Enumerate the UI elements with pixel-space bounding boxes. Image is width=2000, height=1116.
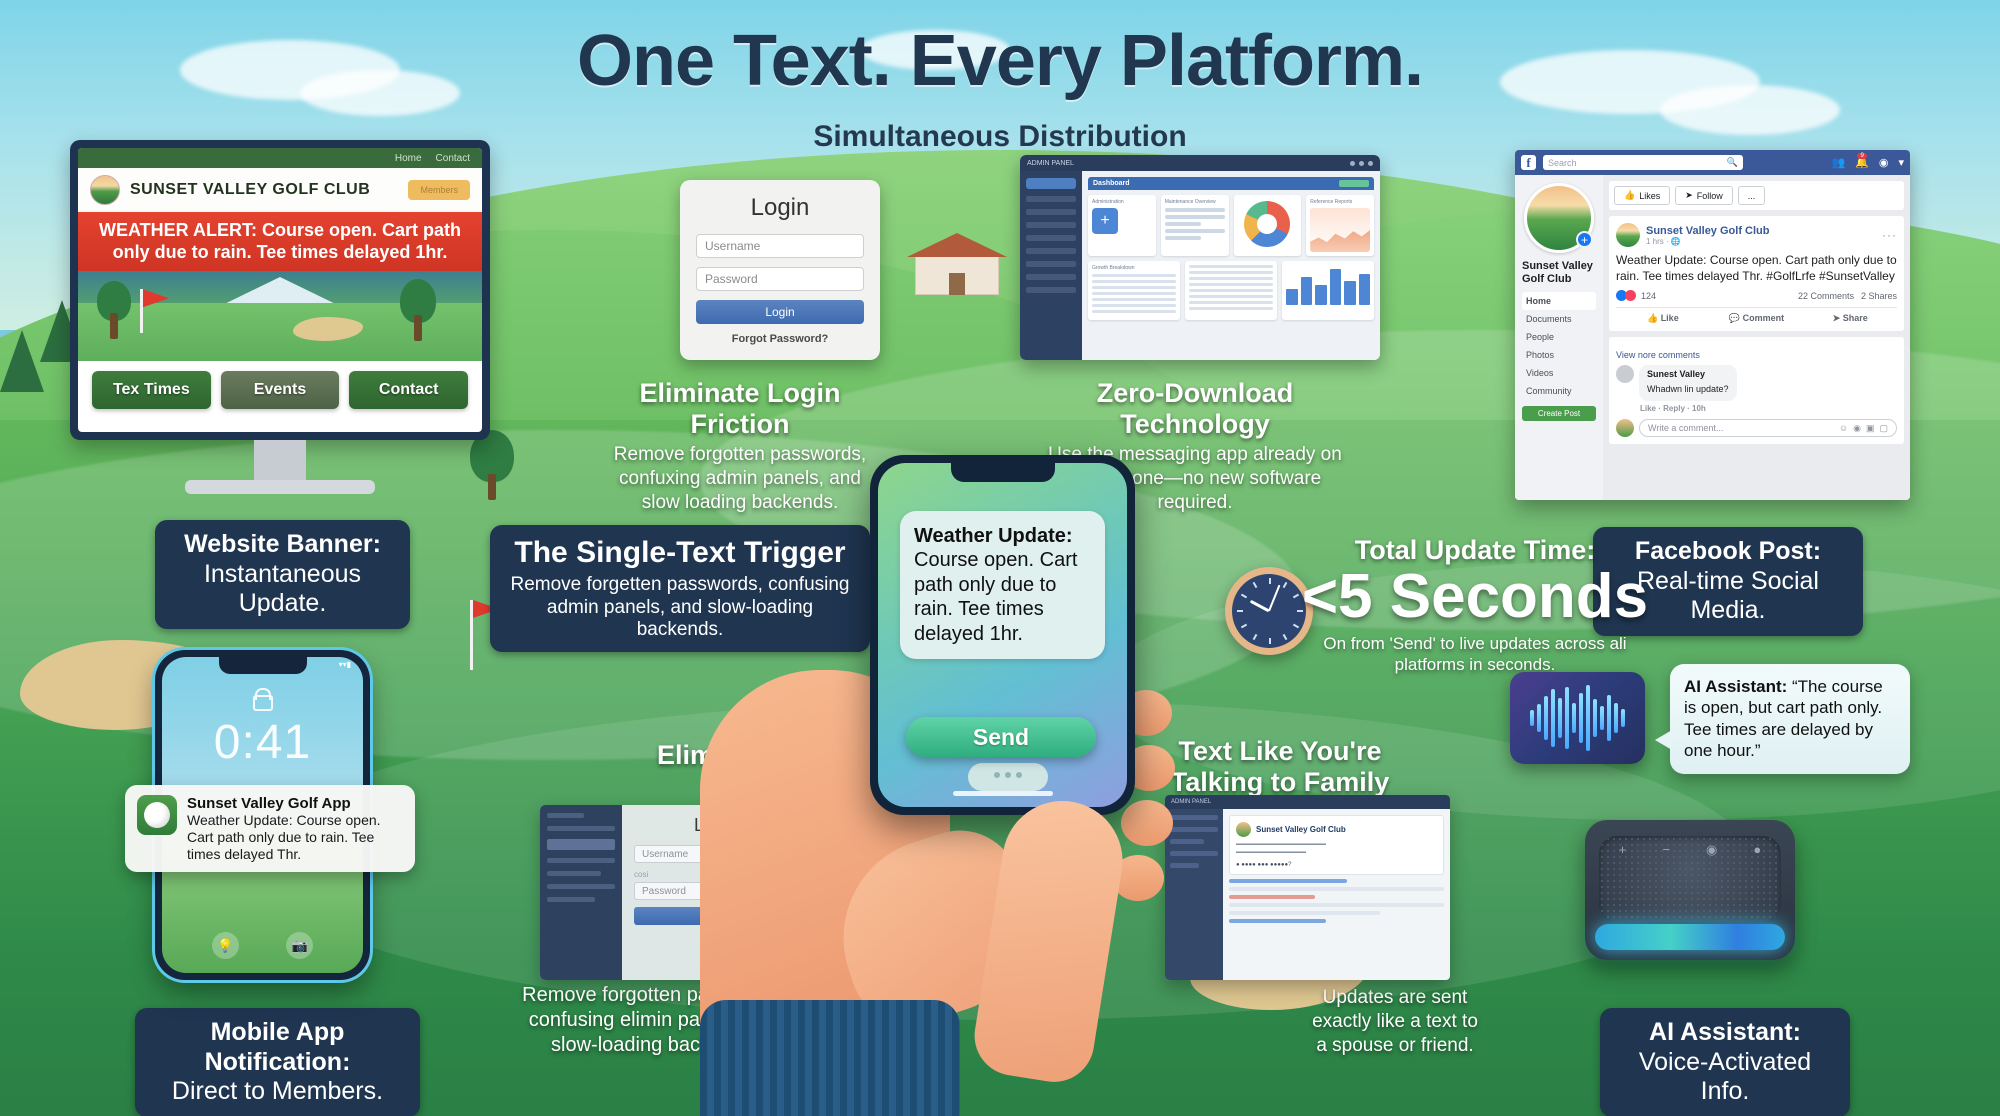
lock-icon [253,695,273,711]
window-body: Sunset Valley Golf Club ▬▬▬▬▬▬▬▬▬▬▬▬▬▬▬▬… [1165,809,1450,980]
ai-prefix: AI Assistant: [1684,677,1787,696]
page-action-bar: 👍 Likes ➤ Follow ... [1609,181,1904,210]
home-indicator [953,791,1053,796]
sidebar-primary-button[interactable] [1026,178,1076,189]
search-placeholder: Search [1548,158,1577,168]
dashboard-table-card [1185,261,1277,320]
sidebar-item[interactable] [1026,287,1076,293]
card-title: Reference Reports [1310,199,1370,205]
comment-placeholder: Write a comment... [1648,423,1723,433]
friends-icon[interactable]: 👥 [1831,156,1845,169]
share-arrow-icon: ➤ [1685,190,1693,201]
phone-screen: Weather Update: Course open. Cart path o… [878,463,1127,807]
phone-notch [219,657,307,674]
caption-title: Zero-Download Technology [1040,378,1350,440]
total-time-sub: On from 'Send' to live updates across al… [1300,633,1650,676]
message-body: Course open. Cart path only due to rain.… [914,549,1077,644]
mobile-notification[interactable]: Sunset Valley Golf App Weather Update: C… [125,785,415,872]
login-title: Login [696,194,864,222]
dashboard-window-title: ADMIN PANEL [1027,160,1074,167]
pill-title: AI Assistant: [1618,1018,1832,1048]
comment-input[interactable]: Write a comment... ☺ ◉ ▣ ▢ [1639,419,1897,437]
facebook-search-input[interactable]: Search 🔍 [1543,155,1743,170]
share-count[interactable]: 2 Shares [1861,291,1897,301]
dashboard-table-card: Growth Breakdown [1088,261,1180,320]
facebook-post: Sunset Valley Golf Club 1 hrs · 🌐 ··· We… [1609,216,1904,331]
send-button[interactable]: Send [906,717,1096,757]
sidebar-item-people[interactable]: People [1522,328,1596,346]
bar-chart [1286,265,1370,305]
message-question: ● ●●●● ●●● ●●●●●? [1236,862,1437,868]
facebook-window: f Search 🔍 👥 🔔 9 ◉ ▾ + Sunset Valley Gol… [1515,150,1910,500]
comment-tool-icons[interactable]: ☺ ◉ ▣ ▢ [1839,423,1888,434]
caption-text-like-family-desc: Updates are sent exactly like a text to … [1305,983,1485,1057]
status-bar-icons: ▾▾▮ [339,660,351,669]
sidebar-item[interactable] [1026,274,1076,280]
text-message-bubble: Weather Update: Course open. Cart path o… [900,511,1105,659]
contact-button[interactable]: Contact [349,371,468,409]
facebook-topbar: f Search 🔍 👥 🔔 9 ◉ ▾ [1515,150,1910,175]
sender-name: Sunset Valley Golf Club [1256,825,1346,834]
site-brand-name: SUNSET VALLEY GOLF CLUB [130,181,370,199]
events-button[interactable]: Events [221,371,340,409]
pill-title: Mobile App Notification: [153,1018,402,1077]
card-title: Administration [1092,199,1152,205]
total-update-time: Total Update Time: <5 Seconds On from 'S… [1300,535,1650,676]
monitor-base [185,480,375,494]
tree-trunk [488,474,496,500]
clock-hour-hand [1250,600,1270,613]
username-input[interactable]: Username [696,234,864,258]
tree-trunk [110,313,118,339]
sidebar-item[interactable] [1026,235,1076,241]
weather-alert-banner: WEATHER ALERT: Course open. Cart path on… [78,212,482,271]
dashboard-sidebar[interactable] [1020,171,1082,360]
write-comment-row: Write a comment... ☺ ◉ ▣ ▢ [1616,419,1897,437]
window-controls[interactable] [1350,161,1373,166]
center-smartphone: Weather Update: Course open. Cart path o… [870,455,1135,815]
window-sidebar[interactable] [1165,809,1223,980]
website-hero-image [78,271,482,361]
post-stats: 124 22 Comments 2 Shares [1616,290,1897,301]
window-titlebar: ADMIN PANEL [1165,795,1450,809]
message-preview: ▬▬▬▬▬▬▬▬▬▬▬▬▬▬▬▬▬▬▬▬▬▬▬▬▬▬▬▬▬▬▬▬ [1236,841,1437,856]
sidebar-item-home[interactable]: Home [1522,292,1596,310]
add-icon[interactable]: + [1092,208,1118,234]
window-main: Sunset Valley Golf Club ▬▬▬▬▬▬▬▬▬▬▬▬▬▬▬▬… [1223,809,1450,980]
thumbs-up-icon: 👍 [1624,190,1635,201]
mic-mute-icon[interactable]: ◉ [1706,842,1717,858]
post-more-icon[interactable]: ··· [1882,228,1897,242]
pill-website-banner: Website Banner: Instantaneous Update. [155,520,410,629]
add-photo-icon[interactable]: + [1576,231,1593,248]
lockscreen-shortcuts: 💡 📷 [162,932,363,959]
tree-icon [398,279,438,341]
admin-messages-window: ADMIN PANEL Sunset Valley Golf Club ▬▬▬▬… [1165,795,1450,980]
message-card: Sunset Valley Golf Club ▬▬▬▬▬▬▬▬▬▬▬▬▬▬▬▬… [1229,815,1444,875]
dashboard-action-chip[interactable] [1339,180,1369,187]
post-comment-button[interactable]: 💬 Comment [1710,313,1804,324]
message-rows [1229,879,1444,923]
shirt-sleeve [700,1000,960,1116]
post-author[interactable]: Sunset Valley Golf Club [1646,225,1769,237]
window-title: ADMIN PANEL [1171,799,1211,805]
camera-icon[interactable]: ◉ [1853,423,1861,434]
page-avatar: + [1524,183,1594,253]
donut-chart [1244,201,1290,247]
sidebar-item-community[interactable]: Community [1522,382,1596,400]
camera-icon[interactable]: 📷 [286,932,313,959]
phone-notch [951,463,1055,482]
emoji-icon[interactable]: ☺ [1839,423,1848,434]
smart-speaker: + − ◉ ● [1585,820,1795,960]
post-avatar [1616,223,1640,247]
comment-count[interactable]: 22 Comments [1798,291,1854,301]
post-header: Sunset Valley Golf Club 1 hrs · 🌐 ··· [1616,223,1897,247]
dashboard-lower-row: Growth Breakdown [1088,261,1374,320]
members-button[interactable]: Members [408,180,470,200]
total-time-value: <5 Seconds [1300,566,1650,628]
notification-app-name: Sunset Valley Golf App [187,795,403,812]
facebook-body: + Sunset Valley Golf Club Home Documents… [1515,175,1910,500]
desktop-monitor: Home Contact SUNSET VALLEY GOLF CLUB Mem… [70,140,490,440]
comment-avatar [1616,365,1634,383]
facebook-sidebar: + Sunset Valley Golf Club Home Documents… [1515,175,1603,500]
caption-eliminate-login-top: Eliminate Login Friction Remove forgotte… [600,378,880,514]
facebook-main: 👍 Likes ➤ Follow ... Sunset Valley Golf … [1603,175,1910,500]
create-post-button[interactable]: Create Post [1522,406,1596,421]
pill-mobile-app: Mobile App Notification: Direct to Membe… [135,1008,420,1116]
message-header: Sunset Valley Golf Club [1236,822,1437,837]
monitor-screen: Home Contact SUNSET VALLEY GOLF CLUB Mem… [78,148,482,432]
caption-text-like-family: Text Like You're Talking to Family [1165,736,1395,798]
sidebar-item-photos[interactable]: Photos [1522,346,1596,364]
tree-icon [94,281,134,339]
pill-title: The Single-Text Trigger [508,535,852,570]
infographic-canvas: One Text. Every Platform. Simultaneous D… [0,0,2000,1116]
admin-sidebar[interactable] [540,805,622,980]
follow-label: Follow [1697,191,1723,201]
search-icon[interactable]: 🔍 [1727,157,1738,168]
website-nav-buttons: Tex Times Events Contact [78,361,482,419]
clock-minute-hand [1268,585,1280,612]
forgot-password-link[interactable]: Forgot Password? [696,333,864,345]
dashboard-donut-chart [1234,195,1302,256]
notification-badge: 9 [1857,153,1866,159]
sticker-icon[interactable]: ▢ [1879,423,1888,434]
dashboard-body: Dashboard Administration + Maintenance O… [1020,171,1380,360]
typing-bubble [968,763,1048,791]
facebook-logo-icon[interactable]: f [1521,155,1536,170]
speaker-light-ring [1595,924,1785,950]
clock-face [1232,574,1306,648]
volume-up-icon[interactable]: + [1619,842,1627,858]
nav-home[interactable]: Home [395,153,422,164]
comment-text: Whadwn lin update? [1647,384,1729,394]
tree [470,430,514,500]
facebook-top-icons[interactable]: 👥 🔔 9 ◉ ▾ [1831,156,1904,169]
comment-meta[interactable]: Like · Reply · 10h [1640,404,1897,413]
follow-page-button[interactable]: ➤ Follow [1675,186,1733,205]
comment-bubble: Sunest Valley Whadwn lin update? [1639,365,1737,401]
tee-times-button[interactable]: Tex Times [92,371,211,409]
view-more-comments-link[interactable]: View nore comments [1616,350,1897,360]
facebook-comments-section: View nore comments Sunest Valley Whadwn … [1609,337,1904,444]
chevron-down-icon[interactable]: ▾ [1898,156,1904,169]
globe-icon: 🌐 [1671,237,1681,246]
gif-icon[interactable]: ▣ [1866,423,1875,434]
dashboard-heading: Dashboard [1093,180,1130,187]
dashboard-card: Administration + [1088,195,1156,256]
post-like-button[interactable]: 👍 Like [1616,313,1710,324]
club-logo-icon [90,175,120,205]
ai-assistant-speech-bubble: AI Assistant: “The course is open, but c… [1670,664,1910,774]
sparkline-chart [1310,208,1370,252]
pill-ai-assistant: AI Assistant: Voice-Activated Info. [1600,1008,1850,1116]
current-user-avatar [1616,419,1634,437]
password-input[interactable]: Password [696,267,864,291]
lockscreen-clock: 0:41 [162,715,363,770]
post-share-button[interactable]: ➤ Share [1803,313,1897,324]
dashboard-area-chart: Reference Reports [1306,195,1374,256]
website-topbar: Home Contact [78,148,482,168]
page-name: Sunset Valley Golf Club [1522,260,1596,286]
website-header: SUNSET VALLEY GOLF CLUB Members [78,168,482,212]
caption-desc: Remove forgotten passwords, confuxing ad… [600,443,880,514]
page-title: One Text. Every Platform. [0,20,2000,102]
golf-ball-icon [144,802,170,828]
reaction-count: 124 [1641,291,1656,301]
sidebar-item[interactable] [1026,209,1076,215]
account-icon[interactable]: ◉ [1879,156,1889,169]
finger [1121,800,1173,846]
dashboard-bar-chart [1282,261,1374,320]
dashboard-main: Dashboard Administration + Maintenance O… [1082,171,1380,360]
notification-body: Weather Update: Course open. Cart path o… [187,812,403,862]
sidebar-item[interactable] [1026,248,1076,254]
clubhouse [915,255,999,295]
pill-subtitle: Direct to Members. [153,1077,402,1107]
action-icon[interactable]: ● [1753,842,1761,858]
monitor-stand [254,440,306,482]
golf-app-icon [137,795,177,835]
sidebar-item-documents[interactable]: Documents [1522,310,1596,328]
comment-author: Sunest Valley [1647,369,1729,379]
pill-subtitle: Voice-Activated Info. [1618,1048,1832,1107]
login-submit-button[interactable]: Login [696,300,864,324]
pill-subtitle: Instantaneous Update. [173,560,392,619]
dashboard-titlebar: ADMIN PANEL [1020,155,1380,171]
card-title: Maintenance Overview [1165,199,1225,205]
reaction-icons [1616,290,1636,301]
section-title: Growth Breakdown [1092,265,1176,271]
dashboard-header-bar: Dashboard [1088,177,1374,190]
voice-waveform-icon [1510,672,1645,764]
tree-trunk [414,315,422,341]
pine-tree [0,330,44,392]
post-text: Weather Update: Course open. Cart path o… [1616,253,1897,284]
like-page-button[interactable]: 👍 Likes [1614,186,1670,205]
post-timestamp: 1 hrs · 🌐 [1646,237,1769,246]
sidebar-item-videos[interactable]: Videos [1522,364,1596,382]
message-bold-line: Weather Update: [914,525,1073,547]
like-label: Likes [1639,191,1660,201]
dashboard-card-row: Administration + Maintenance Overview Re… [1088,195,1374,256]
pill-title: Website Banner: [173,530,392,560]
admin-dashboard-window: ADMIN PANEL Dashboard [1020,155,1380,360]
flagpole-icon [140,289,143,333]
sidebar-item[interactable] [1026,261,1076,267]
sidebar-item[interactable] [1026,196,1076,202]
more-options-button[interactable]: ... [1738,186,1766,205]
caption-title: Eliminate Login Friction [600,378,880,440]
comment-item: Sunest Valley Whadwn lin update? [1616,365,1897,401]
flashlight-icon[interactable]: 💡 [212,932,239,959]
caption-title: Text Like You're Talking to Family [1165,736,1395,798]
login-card-top: Login Username Password Login Forgot Pas… [680,180,880,360]
dashboard-card: Maintenance Overview [1161,195,1229,256]
speaker-buttons[interactable]: + − ◉ ● [1585,842,1795,858]
caption-desc: Updates are sent exactly like a text to … [1305,986,1485,1057]
sender-avatar [1236,822,1251,837]
nav-contact[interactable]: Contact [436,153,470,164]
flagpole [470,600,473,670]
sidebar-item[interactable] [1026,222,1076,228]
post-action-bar: 👍 Like 💬 Comment ➤ Share [1616,307,1897,324]
volume-down-icon[interactable]: − [1662,842,1670,858]
